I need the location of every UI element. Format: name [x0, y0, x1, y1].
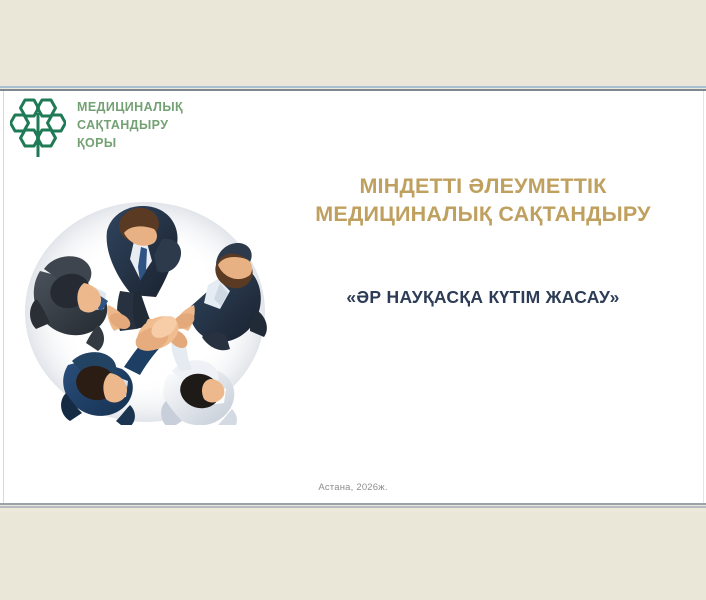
bottom-gray-divider-1 [0, 503, 706, 505]
five-businesspeople-joining-hands-illustration [12, 179, 278, 425]
slide-tagline: «ӘР НАУҚАСҚА КҮТІМ ЖАСАУ» [268, 287, 698, 308]
organization-logo-lockup: МЕДИЦИНАЛЫҚ САҚТАНДЫРУ ҚОРЫ [10, 96, 183, 158]
headline-line-1: МІНДЕТТІ ӘЛЕУМЕТТІК [359, 174, 606, 198]
slide-canvas: МЕДИЦИНАЛЫҚ САҚТАНДЫРУ ҚОРЫ [0, 91, 706, 503]
headline-line-2: МЕДИЦИНАЛЫҚ САҚТАНДЫРУ [268, 201, 698, 229]
bottom-background-band [0, 512, 706, 600]
organization-logo-text: МЕДИЦИНАЛЫҚ САҚТАНДЫРУ ҚОРЫ [77, 96, 183, 152]
top-background-band [0, 0, 706, 86]
hexagon-flower-logo-icon [10, 96, 66, 158]
slide-left-edge-line [3, 91, 4, 503]
slide-right-edge-line [703, 91, 704, 503]
logo-text-line-1: МЕДИЦИНАЛЫҚ [77, 99, 183, 117]
slide-viewport: МЕДИЦИНАЛЫҚ САҚТАНДЫРУ ҚОРЫ [0, 0, 706, 600]
bottom-gray-divider-2 [0, 506, 706, 508]
logo-text-line-3: ҚОРЫ [77, 135, 183, 153]
slide-headline: МІНДЕТТІ ӘЛЕУМЕТТІК МЕДИЦИНАЛЫҚ САҚТАНДЫ… [268, 173, 698, 229]
slide-place-date: Астана, 2026ж. [203, 482, 503, 493]
top-blue-divider [0, 86, 706, 88]
logo-text-line-2: САҚТАНДЫРУ [77, 117, 183, 135]
